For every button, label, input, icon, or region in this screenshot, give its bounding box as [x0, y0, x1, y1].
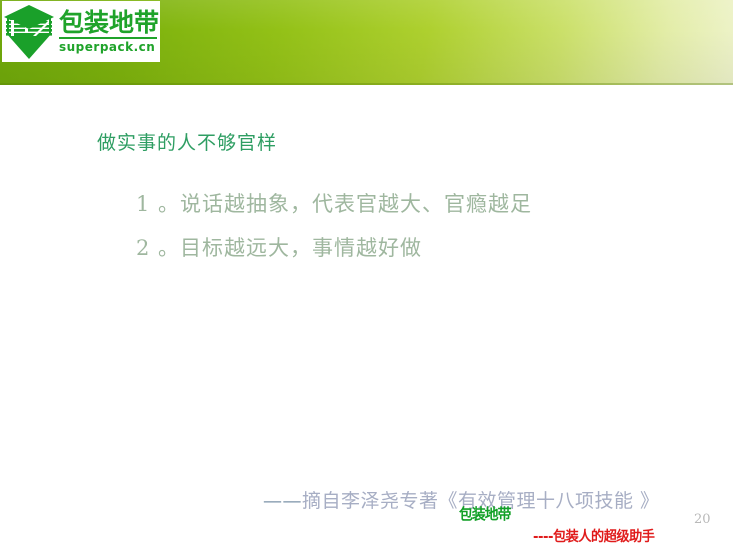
- header-band-bottom-edge: [0, 83, 733, 85]
- package-box-logo-icon: [2, 3, 58, 61]
- logo-chinese-name: 包装地带: [59, 10, 159, 35]
- logo-divider-rule: [59, 37, 157, 39]
- list-item-text: 目标越远大，事情越好做: [180, 236, 422, 260]
- watermark-slogan-red: ----包装人的超级助手: [533, 526, 654, 546]
- page-number: 20: [694, 512, 711, 527]
- bullet-list: 1 。说话越抽象，代表官越大、官瘾越足 2 。目标越远大，事情越好做: [136, 182, 696, 270]
- logo-text-block: 包装地带 superpack.cn: [59, 10, 159, 53]
- watermark-brand-green: 包装地带: [459, 503, 511, 524]
- presentation-slide: 包装地带 superpack.cn 做实事的人不够官样 1 。说话越抽象，代表官…: [0, 0, 733, 550]
- site-logo[interactable]: 包装地带 superpack.cn: [2, 1, 160, 62]
- list-item: 2 。目标越远大，事情越好做: [136, 226, 696, 270]
- list-item-number: 1 。: [136, 192, 180, 216]
- list-item-number: 2 。: [136, 236, 180, 260]
- page-title: 做实事的人不够官样: [97, 128, 277, 155]
- logo-domain-text: superpack.cn: [59, 41, 159, 53]
- citation-dash: ——: [263, 490, 302, 512]
- list-item: 1 。说话越抽象，代表官越大、官瘾越足: [136, 182, 696, 226]
- list-item-text: 说话越抽象，代表官越大、官瘾越足: [180, 192, 532, 216]
